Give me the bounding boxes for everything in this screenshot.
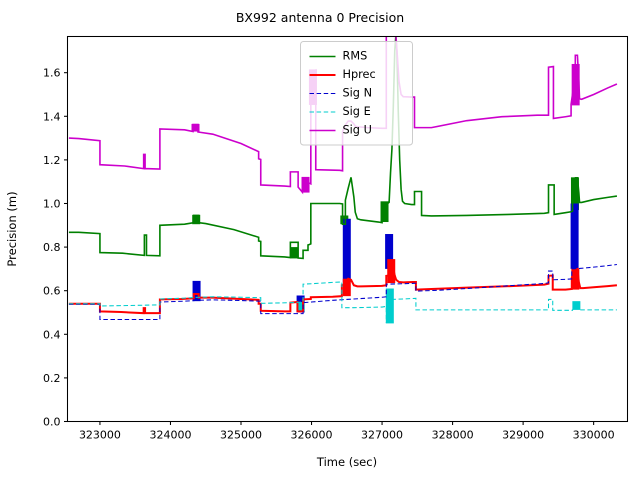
y-axis-label: Precision (m) <box>5 191 19 266</box>
legend-label-hprec: Hprec <box>343 68 376 81</box>
x-tick-label: 323000 <box>79 429 121 442</box>
x-tick-label: 327000 <box>361 429 403 442</box>
x-tick-label: 326000 <box>291 429 333 442</box>
spike-band-sig-n <box>571 203 579 268</box>
matplotlib-figure: 3230003240003250003260003270003280003290… <box>0 0 640 480</box>
legend-label-rms: RMS <box>343 50 368 63</box>
y-tick-label: 1.0 <box>43 197 61 210</box>
y-tick-label: 0.2 <box>43 372 61 385</box>
y-tick-label: 0.6 <box>43 285 61 298</box>
y-tick-label: 1.4 <box>43 110 61 123</box>
y-tick-label: 0.4 <box>43 328 61 341</box>
chart-title: BX992 antenna 0 Precision <box>236 10 404 25</box>
x-axis-label: Time (sec) <box>316 455 377 469</box>
x-tick-label: 325000 <box>220 429 262 442</box>
y-tick-label: 0.8 <box>43 241 61 254</box>
spike-band-sig-n <box>343 219 351 282</box>
precision-chart: 3230003240003250003260003270003280003290… <box>0 0 640 480</box>
legend-label-sig-n: Sig N <box>343 87 373 100</box>
y-tick-label: 1.2 <box>43 154 61 167</box>
x-tick-label: 329000 <box>502 429 544 442</box>
legend-label-sig-u: Sig U <box>343 124 372 137</box>
x-tick-label: 324000 <box>149 429 191 442</box>
spike-band-rms <box>290 247 298 258</box>
x-tick-label: 330000 <box>573 429 615 442</box>
y-tick-label: 0.0 <box>43 416 61 429</box>
legend-label-sig-e: Sig E <box>343 105 371 118</box>
x-tick-label: 328000 <box>432 429 474 442</box>
y-tick-label: 1.6 <box>43 67 61 80</box>
legend[interactable]: RMSHprecSig NSig ESig U <box>301 42 413 146</box>
spike-band-sig-e <box>386 289 394 324</box>
